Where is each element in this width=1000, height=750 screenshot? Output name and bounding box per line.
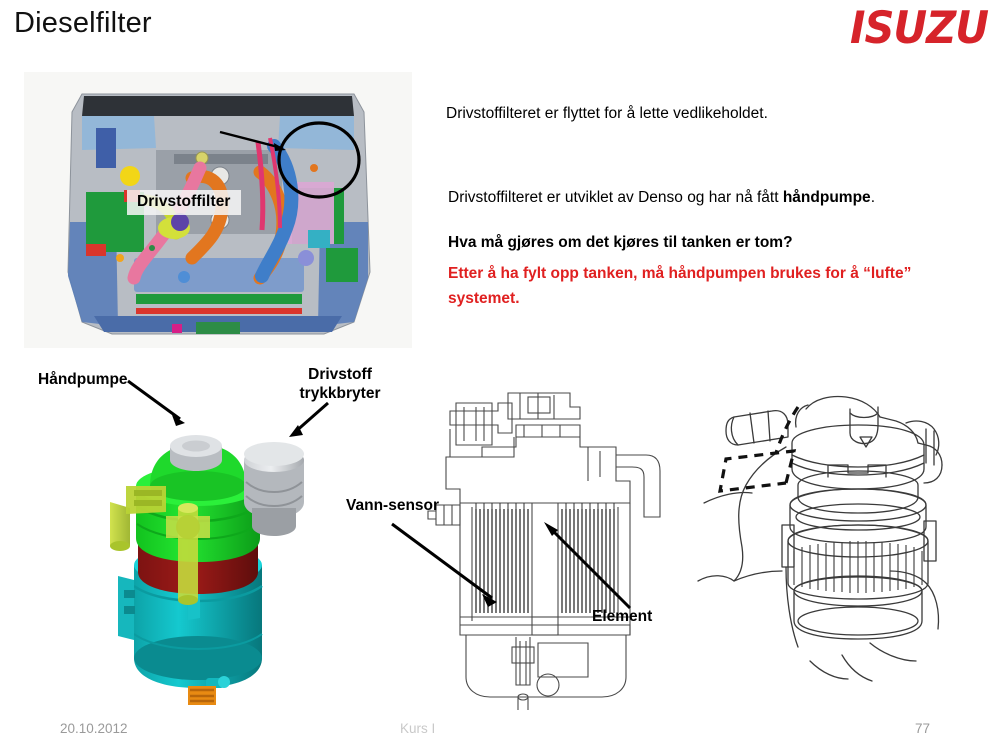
- isuzu-logo-text: ISUZU: [806, 5, 988, 52]
- footer-page-number: 77: [915, 721, 930, 736]
- paragraph-denso-prefix: Drivstoffilteret er utviklet av Denso og…: [448, 189, 783, 206]
- paragraph-denso: Drivstoffilteret er utviklet av Denso og…: [448, 187, 986, 209]
- filter-hand-sketch-illustration: [690, 385, 990, 685]
- paragraph-denso-suffix: .: [871, 189, 875, 206]
- paragraph-answer: Etter å ha fylt opp tanken, må håndpumpe…: [448, 262, 986, 312]
- filter-hand-sketch: [690, 385, 990, 685]
- filter-3d-callout-arrows: [0, 355, 420, 475]
- paragraph-intro: Drivstoffilteret er flyttet for å lette …: [446, 103, 986, 125]
- engine-bay-photo: KHD: [24, 72, 412, 348]
- body-text-block: Drivstoffilteret er flyttet for å lette …: [446, 103, 986, 312]
- isuzu-logo: ISUZU: [813, 5, 988, 47]
- paragraph-question: Hva må gjøres om det kjøres til tanken e…: [448, 232, 986, 254]
- footer-course: Kurs I: [400, 721, 435, 736]
- cross-section-callout-arrows: [380, 490, 680, 640]
- footer-date: 20.10.2012: [60, 721, 128, 736]
- paragraph-denso-bold: håndpumpe: [783, 189, 871, 206]
- page-title: Dieselfilter: [14, 8, 152, 40]
- engine-bay-callout-label: Drivstoffilter: [127, 190, 241, 215]
